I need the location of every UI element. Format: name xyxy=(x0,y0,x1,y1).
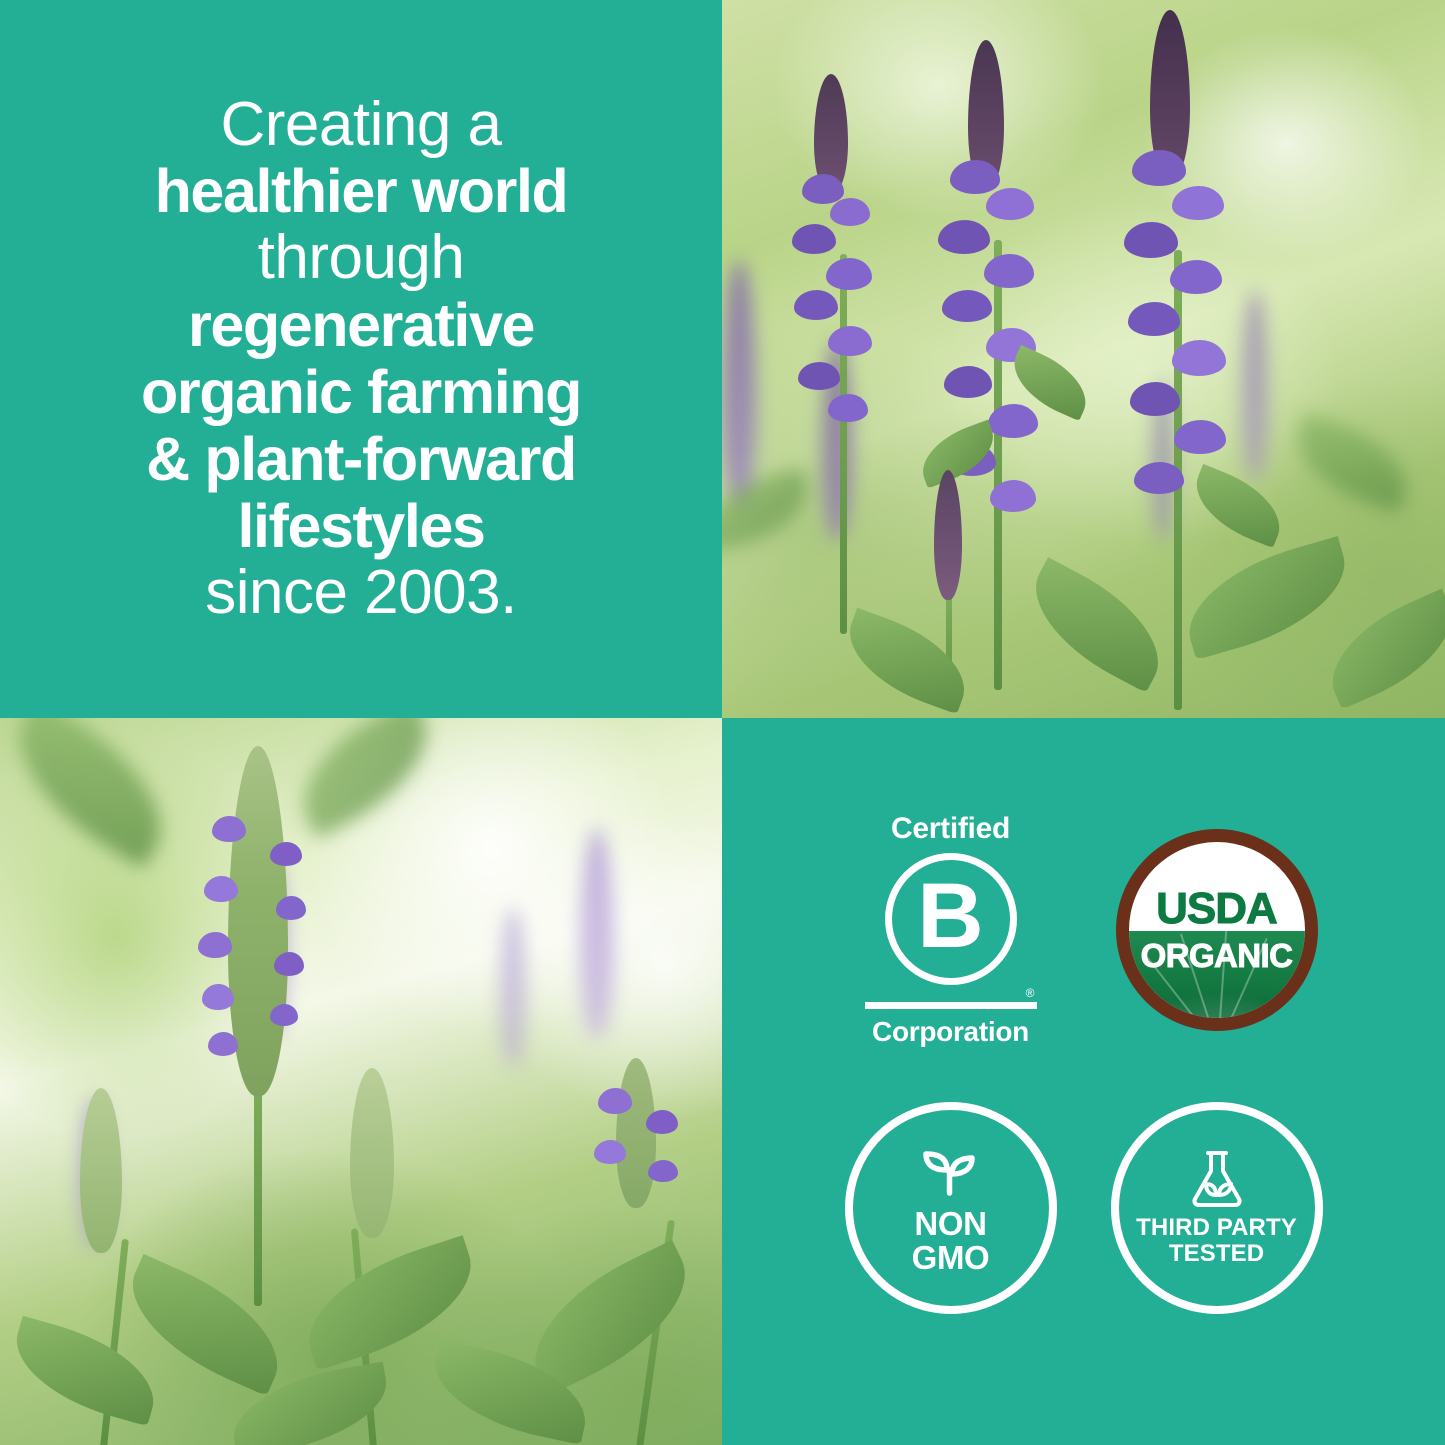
non-gmo-line-1: NON xyxy=(912,1207,990,1241)
usda-line-1: USDA xyxy=(1156,888,1277,930)
badge-non-gmo[interactable]: NON GMO xyxy=(831,1102,1071,1314)
sprout-icon xyxy=(916,1141,986,1203)
badge-usda-organic[interactable]: USDA ORGANIC xyxy=(1097,829,1337,1031)
headline-line-7: lifestyles xyxy=(41,493,681,560)
flask-icon xyxy=(1187,1149,1247,1211)
salvia-field-photo xyxy=(722,0,1445,718)
headline-line-3: through xyxy=(41,225,681,291)
headline-panel: Creating a healthier world through regen… xyxy=(0,0,722,718)
certification-grid: Certified B ® Corporation USDA xyxy=(722,814,1445,1324)
registered-trademark-icon: ® xyxy=(865,985,1037,999)
headline-line-8: since 2003. xyxy=(41,560,681,626)
third-party-line-1: THIRD PARTY xyxy=(1136,1215,1297,1241)
leaf-cluster-foreground xyxy=(0,1215,722,1445)
bcorp-circle-b-icon: B xyxy=(885,853,1017,985)
bcorp-bottom-label: Corporation xyxy=(865,1018,1037,1046)
headline-line-2: healthier world xyxy=(41,158,681,225)
bcorp-top-label: Certified xyxy=(865,814,1037,844)
salvia-closeup-photo xyxy=(0,718,722,1445)
bcorp-letter: B xyxy=(885,853,1017,985)
third-party-line-2: TESTED xyxy=(1136,1241,1297,1267)
foliage-foreground xyxy=(722,518,1445,718)
headline-line-1: Creating a xyxy=(41,92,681,158)
badge-third-party-tested[interactable]: THIRD PARTY TESTED xyxy=(1097,1102,1337,1314)
headline-line-6: & plant-forward xyxy=(41,426,681,493)
usda-line-2: ORGANIC xyxy=(1141,939,1293,972)
bcorp-divider xyxy=(865,1002,1037,1009)
headline-line-5: organic farming xyxy=(41,359,681,426)
headline-line-4: regenerative xyxy=(41,292,681,359)
promo-collage: Creating a healthier world through regen… xyxy=(0,0,1445,1445)
headline-block: Creating a healthier world through regen… xyxy=(41,92,681,626)
certifications-panel: Certified B ® Corporation USDA xyxy=(722,718,1445,1445)
usda-seal-icon: USDA ORGANIC xyxy=(1116,829,1318,1031)
non-gmo-line-2: GMO xyxy=(912,1241,990,1275)
badge-b-corporation[interactable]: Certified B ® Corporation xyxy=(831,814,1071,1046)
